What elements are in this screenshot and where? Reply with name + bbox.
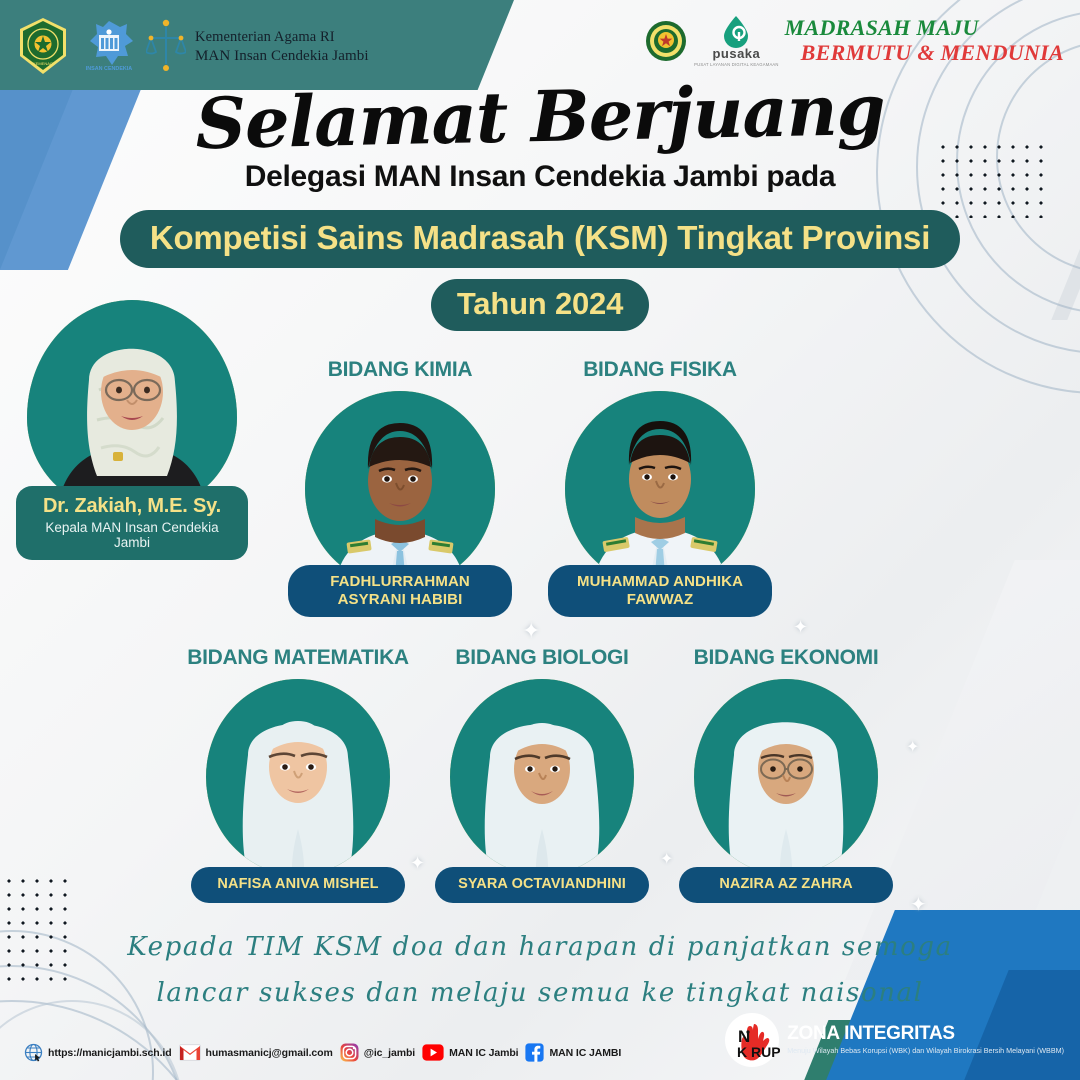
student-card-kimia: BIDANG KIMIA: [288, 358, 512, 617]
student-portrait-ekonomi: [694, 679, 878, 875]
student-photo: [305, 391, 495, 587]
student-nameplate: FADHLURRAHMAN ASYRANI HABIBI: [288, 565, 512, 617]
footer-label-youtube: MAN IC Jambi: [449, 1047, 518, 1059]
principal-card: Dr. Zakiah, M.E. Sy. Kepala MAN Insan Ce…: [16, 300, 248, 560]
student-photo: [206, 679, 390, 875]
footer-item-instagram[interactable]: @ic_jambi: [340, 1043, 415, 1062]
facebook-icon: [525, 1043, 544, 1062]
gmail-icon: [179, 1044, 201, 1061]
youtube-icon: [422, 1044, 444, 1061]
zona-integritas-text: ZONA INTEGRITAS Menuju Wilayah Bebas Kor…: [787, 1024, 1064, 1055]
footer-item-facebook[interactable]: MAN IC JAMBI: [525, 1043, 621, 1062]
tagline-line-1: MADRASAH MAJU: [785, 16, 1064, 41]
zona-title: ZONA INTEGRITAS: [787, 1024, 1064, 1045]
globe-icon: [24, 1043, 43, 1062]
zona-integritas-badge: N K RUPSI ZONA INTEGRITAS Menuju Wilayah…: [724, 1012, 1064, 1068]
insan-cendekia-logo: INSAN CENDEKIA: [81, 18, 137, 76]
title-block: Selamat Berjuang Delegasi MAN Insan Cend…: [0, 82, 1080, 331]
footer-item-email[interactable]: humasmanicj@gmail.com: [179, 1044, 333, 1061]
student-portrait-matematika: [206, 679, 390, 875]
principal-name: Dr. Zakiah, M.E. Sy.: [26, 495, 238, 518]
year-pill: Tahun 2024: [431, 279, 649, 331]
sparkle-star-2: ✦: [793, 618, 808, 636]
closing-line-1: Kepada TIM KSM doa dan harapan di panjat…: [0, 925, 1080, 971]
footer-label-website: https://manicjambi.sch.id: [48, 1047, 172, 1059]
zona-subtitle: Menuju Wilayah Bebas Korupsi (WBK) dan W…: [787, 1046, 1064, 1055]
student-row-2: BIDANG MATEMATIKA N: [186, 646, 898, 903]
principal-portrait: [27, 300, 237, 514]
header-right: pusaka PUSAT LAYANAN DIGITAL KEAGAMAAN M…: [644, 14, 1064, 67]
header-left: KEMENAG INSAN CENDEKIA Kementerian Agama…: [14, 16, 369, 78]
student-photo: [694, 679, 878, 875]
student-nameplate: MUHAMMAD ANDHIKA FAWWAZ: [548, 565, 772, 617]
pusaka-logo: pusaka PUSAT LAYANAN DIGITAL KEAGAMAAN: [694, 14, 779, 67]
student-card-biologi: BIDANG BIOLOGI SYAR: [430, 646, 654, 903]
principal-role: Kepala MAN Insan Cendekia Jambi: [26, 520, 238, 550]
student-nameplate: SYARA OCTAVIANDHINI: [435, 867, 649, 903]
student-photo: [565, 391, 755, 587]
principal-nameplate: Dr. Zakiah, M.E. Sy. Kepala MAN Insan Ce…: [16, 486, 248, 560]
footer-item-youtube[interactable]: MAN IC Jambi: [422, 1044, 518, 1061]
footer-contact-bar: https://manicjambi.sch.id humasmanicj@gm…: [24, 1043, 621, 1062]
student-field-label: BIDANG EKONOMI: [674, 646, 898, 670]
header-left-text: Kementerian Agama RI MAN Insan Cendekia …: [195, 29, 369, 65]
sparkle-star-1: ✦: [522, 620, 540, 642]
subtitle: Delegasi MAN Insan Cendekia Jambi pada: [0, 160, 1080, 194]
ministry-line-1: Kementerian Agama RI: [195, 29, 369, 47]
student-card-ekonomi: BIDANG EKONOMI: [674, 646, 898, 903]
sparkle-star-5: ✦: [910, 895, 927, 915]
student-portrait-biologi: [450, 679, 634, 875]
student-field-label: BIDANG KIMIA: [288, 358, 512, 382]
svg-text:KEMENAG: KEMENAG: [33, 61, 53, 66]
pusaka-droplet-icon: [719, 14, 753, 48]
closing-line-2: lancar sukses dan melaju semua ke tingka…: [0, 971, 1080, 1017]
footer-label-facebook: MAN IC JAMBI: [549, 1047, 621, 1059]
student-portrait-kimia: [305, 391, 495, 587]
pusaka-label: pusaka: [712, 46, 760, 61]
no-korupsi-icon: N K RUPSI: [724, 1012, 780, 1068]
student-card-fisika: BIDANG FISIKA: [548, 358, 772, 617]
student-row-1: BIDANG KIMIA: [288, 358, 772, 617]
student-nameplate: NAFISA ANIVA MISHEL: [191, 867, 405, 903]
student-nameplate: NAZIRA AZ ZAHRA: [679, 867, 893, 903]
madrasah-tagline: MADRASAH MAJU BERMUTU & MENDUNIA: [785, 16, 1064, 65]
svg-text:INSAN CENDEKIA: INSAN CENDEKIA: [86, 66, 133, 72]
scales-logo: [146, 18, 186, 76]
competition-pill: Kompetisi Sains Madrasah (KSM) Tingkat P…: [120, 210, 960, 268]
instagram-icon: [340, 1043, 359, 1062]
student-portrait-fisika: [565, 391, 755, 587]
script-headline: Selamat Berjuang: [0, 71, 1080, 164]
student-photo: [450, 679, 634, 875]
principal-photo: [27, 300, 237, 514]
pusaka-sublabel: PUSAT LAYANAN DIGITAL KEAGAMAAN: [694, 62, 779, 67]
ministry-line-2: MAN Insan Cendekia Jambi: [195, 47, 369, 65]
footer-label-instagram: @ic_jambi: [364, 1047, 415, 1059]
closing-message: Kepada TIM KSM doa dan harapan di panjat…: [0, 925, 1080, 1016]
footer-item-website[interactable]: https://manicjambi.sch.id: [24, 1043, 172, 1062]
tagline-line-2: BERMUTU & MENDUNIA: [785, 41, 1064, 66]
kemenag-small-logo: [644, 19, 688, 63]
footer-label-email: humasmanicj@gmail.com: [206, 1047, 333, 1059]
student-field-label: BIDANG MATEMATIKA: [186, 646, 410, 670]
svg-text:RUPSI: RUPSI: [751, 1044, 780, 1060]
poster-canvas: ✦ ✦ ✦ ✦ ✦ ✦ KEMENAG INSAN CENDEKIA: [0, 0, 1080, 1080]
svg-text:K: K: [737, 1044, 747, 1060]
student-field-label: BIDANG FISIKA: [548, 358, 772, 382]
student-card-matematika: BIDANG MATEMATIKA N: [186, 646, 410, 903]
kemenag-logo: KEMENAG: [14, 16, 72, 78]
student-field-label: BIDANG BIOLOGI: [430, 646, 654, 670]
sparkle-star-6: ✦: [906, 740, 919, 756]
